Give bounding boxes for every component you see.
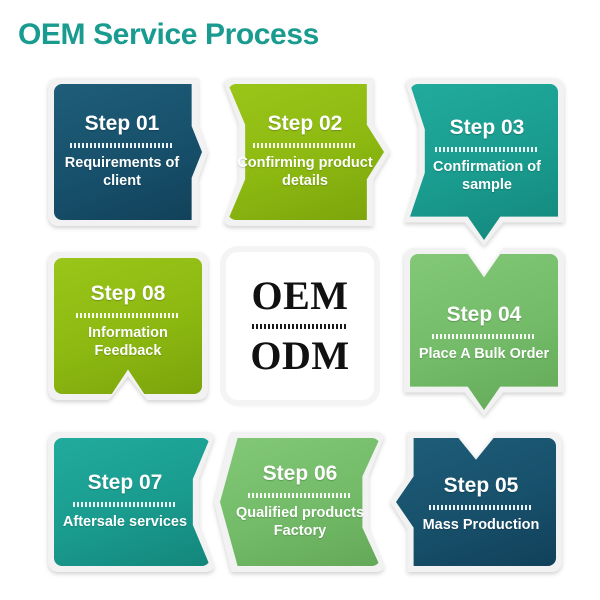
step-card-05[interactable]: Step 05 Mass Production: [390, 432, 562, 572]
step-text: Place A Bulk Order: [419, 346, 549, 364]
step-text: Aftersale services: [63, 514, 187, 532]
divider-dotted: [76, 313, 180, 318]
step-card-03-content: Step 03 Confirmation of sample: [404, 117, 564, 195]
step-card-06-content: Step 06 Qualified products Factory: [214, 463, 386, 541]
step-card-02-content: Step 02 Confirming product details: [222, 113, 390, 191]
step-number: Step 01: [85, 113, 160, 135]
step-text: Confirmation of sample: [418, 159, 556, 195]
step-number: Step 05: [444, 475, 519, 497]
step-number: Step 04: [447, 304, 522, 326]
step-number: Step 03: [450, 117, 525, 139]
divider-dotted-dark: [252, 324, 348, 329]
step-card-02[interactable]: Step 02 Confirming product details: [222, 78, 390, 226]
divider-dotted: [70, 143, 174, 148]
step-card-03[interactable]: Step 03 Confirmation of sample: [404, 78, 564, 246]
oem-label: OEM: [251, 276, 348, 316]
step-card-06[interactable]: Step 06 Qualified products Factory: [214, 432, 386, 572]
divider-dotted: [432, 334, 536, 339]
divider-dotted: [73, 502, 177, 507]
step-card-07[interactable]: Step 07 Aftersale services: [48, 432, 216, 572]
step-card-04[interactable]: Step 04 Place A Bulk Order: [404, 248, 564, 416]
step-number: Step 08: [91, 283, 166, 305]
page-title: OEM Service Process: [18, 18, 319, 52]
step-text: Mass Production: [423, 517, 540, 535]
divider-dotted: [248, 493, 352, 498]
step-card-01-content: Step 01 Requirements of client: [48, 113, 208, 191]
divider-dotted: [435, 147, 539, 152]
step-card-08-content: Step 08 Information Feedback: [48, 283, 208, 361]
step-text: Qualified products Factory: [228, 505, 372, 541]
odm-label: ODM: [250, 336, 349, 376]
step-card-01[interactable]: Step 01 Requirements of client: [48, 78, 208, 226]
divider-dotted: [253, 143, 357, 148]
step-number: Step 07: [88, 472, 163, 494]
step-card-05-content: Step 05 Mass Production: [390, 475, 562, 535]
step-number: Step 02: [268, 113, 343, 135]
step-text: Confirming product details: [236, 155, 374, 191]
divider-dotted: [429, 505, 533, 510]
step-card-07-content: Step 07 Aftersale services: [48, 472, 216, 532]
step-text: Requirements of client: [56, 155, 188, 191]
step-card-08[interactable]: Step 08 Information Feedback: [48, 252, 208, 400]
oem-odm-logo-card: OEM ODM: [226, 252, 374, 400]
step-text: Information Feedback: [56, 325, 200, 361]
infographic-canvas: OEM Service Process Step 01 Requirements…: [0, 0, 600, 600]
step-card-04-content: Step 04 Place A Bulk Order: [404, 304, 564, 364]
step-number: Step 06: [263, 463, 338, 485]
